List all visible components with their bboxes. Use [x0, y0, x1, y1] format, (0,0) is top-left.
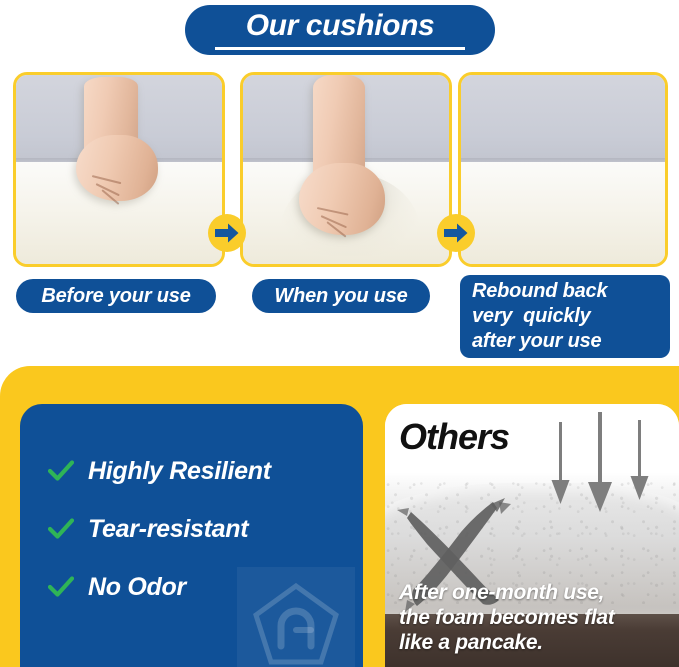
foam-scene-pressed [243, 75, 449, 264]
foam-scene-before [16, 75, 222, 264]
hand-illustration [291, 75, 411, 260]
foam-scene-rebounded [461, 75, 665, 264]
page-title: Our cushions [246, 11, 435, 43]
check-icon [48, 518, 78, 540]
feature-item: Tear-resistant [48, 500, 353, 558]
demo-photo-2 [240, 72, 452, 267]
caption-line: After one-month use, [399, 580, 671, 605]
check-icon [48, 460, 78, 482]
arrow-down-icon-group [541, 412, 661, 524]
caption-rebound-back: Rebound back very quickly after your use [460, 275, 670, 358]
demo-photo-3 [458, 72, 668, 267]
foam-block [461, 162, 665, 264]
feature-item: Highly Resilient [48, 442, 353, 500]
caption-line: the foam becomes flat [399, 605, 671, 630]
others-caption: After one-month use, the foam becomes fl… [399, 580, 671, 655]
fist [76, 135, 158, 201]
page-title-banner: Our cushions [185, 5, 495, 55]
fist [299, 163, 385, 235]
pentagon-a-logo-watermark [237, 567, 355, 667]
feature-label: Highly Resilient [88, 457, 271, 486]
caption-line: like a pancake. [399, 630, 671, 655]
others-title: Others [399, 416, 509, 458]
arrow-right-icon [208, 214, 246, 252]
caption-line: Rebound back [472, 279, 607, 304]
arrow-right-icon [437, 214, 475, 252]
product-infographic: Our cushions [0, 0, 679, 667]
check-icon [48, 576, 78, 598]
features-panel: Highly Resilient Tear-resistant No Odor [20, 404, 363, 667]
caption-when-you-use: When you use [252, 279, 430, 313]
background-wall [461, 75, 665, 162]
caption-line: after your use [472, 329, 601, 354]
demo-photo-row [0, 72, 679, 267]
feature-label: Tear-resistant [88, 515, 248, 544]
feature-label: No Odor [88, 573, 186, 602]
title-underline [215, 47, 465, 50]
caption-before-your-use: Before your use [16, 279, 216, 313]
hand-illustration [68, 77, 178, 227]
demo-photo-1 [13, 72, 225, 267]
caption-line: very quickly [472, 304, 591, 329]
others-comparison-panel: Others [385, 404, 679, 667]
